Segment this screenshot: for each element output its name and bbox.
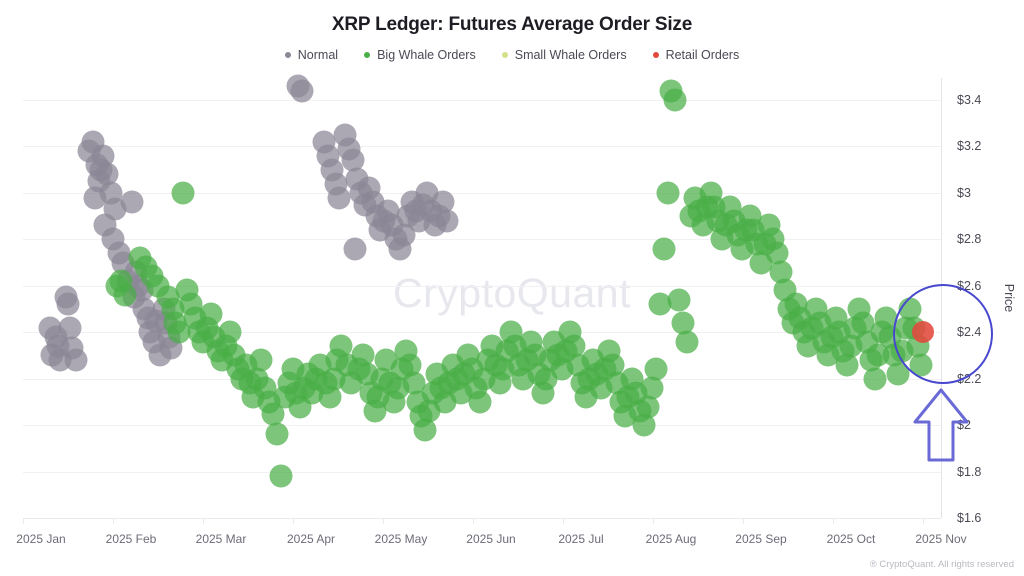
grid-line [23, 425, 941, 426]
data-point[interactable] [656, 181, 679, 204]
plot-area [23, 78, 941, 518]
data-point[interactable] [90, 158, 113, 181]
legend-marker-icon [364, 52, 370, 58]
data-point[interactable] [664, 89, 687, 112]
legend-item-big-whale-orders[interactable]: Big Whale Orders [364, 48, 476, 62]
data-point[interactable] [56, 293, 79, 316]
x-axis-tick-mark [923, 518, 924, 524]
data-point[interactable] [113, 284, 136, 307]
x-axis-tick-mark [833, 518, 834, 524]
y-axis-tick-label: $1.8 [957, 465, 981, 479]
copyright-notice: ® CryptoQuant. All rights reserved [870, 559, 1014, 570]
data-point[interactable] [64, 349, 87, 372]
data-point[interactable] [121, 191, 144, 214]
legend-marker-icon [285, 52, 291, 58]
legend-item-label: Normal [298, 48, 338, 62]
grid-line [23, 146, 941, 147]
x-axis-tick-mark [203, 518, 204, 524]
x-axis-tick-label: 2025 Jan [16, 532, 65, 546]
grid-line [23, 472, 941, 473]
chart-legend: NormalBig Whale OrdersSmall Whale Orders… [0, 48, 1024, 62]
grid-line [23, 100, 941, 101]
x-axis-tick-label: 2025 Aug [646, 532, 697, 546]
x-axis-tick-label: 2025 Mar [196, 532, 247, 546]
data-point[interactable] [652, 237, 675, 260]
x-axis-tick-label: 2025 Jul [558, 532, 603, 546]
x-axis-tick-label: 2025 Nov [915, 532, 966, 546]
y-axis-tick-label: $1.6 [957, 511, 981, 525]
grid-line [23, 239, 941, 240]
x-axis-tick-label: 2025 Oct [827, 532, 876, 546]
data-point[interactable] [328, 186, 351, 209]
x-axis-tick-label: 2025 Jun [466, 532, 515, 546]
data-point[interactable] [199, 302, 222, 325]
x-axis-tick-mark [563, 518, 564, 524]
legend-item-label: Retail Orders [666, 48, 740, 62]
data-point[interactable] [863, 367, 886, 390]
data-point[interactable] [469, 390, 492, 413]
y-axis-tick-label: $3 [957, 186, 971, 200]
x-axis-tick-mark [23, 518, 24, 524]
data-point[interactable] [344, 237, 367, 260]
chart-container: XRP Ledger: Futures Average Order Size N… [0, 0, 1024, 576]
legend-item-label: Small Whale Orders [515, 48, 627, 62]
y-axis-title: Price [1002, 284, 1016, 312]
x-axis-tick-mark [653, 518, 654, 524]
x-axis-tick-mark [743, 518, 744, 524]
data-point[interactable] [668, 288, 691, 311]
chart-title: XRP Ledger: Futures Average Order Size [0, 14, 1024, 36]
y-axis-tick-label: $3.2 [957, 139, 981, 153]
legend-item-retail-orders[interactable]: Retail Orders [653, 48, 740, 62]
x-axis-tick-mark [473, 518, 474, 524]
x-axis-tick-mark [293, 518, 294, 524]
upward-arrow-annotation [911, 386, 971, 466]
x-axis-tick-label: 2025 Feb [106, 532, 157, 546]
data-point[interactable] [219, 321, 242, 344]
data-point[interactable] [269, 465, 292, 488]
x-axis-line [23, 518, 941, 519]
y-axis-tick-label: $3.4 [957, 93, 981, 107]
x-axis-tick-label: 2025 Sep [735, 532, 786, 546]
data-point[interactable] [58, 316, 81, 339]
data-point[interactable] [676, 330, 699, 353]
data-point[interactable] [435, 209, 458, 232]
data-point[interactable] [291, 79, 314, 102]
legend-item-normal[interactable]: Normal [285, 48, 338, 62]
data-point[interactable] [84, 186, 107, 209]
x-axis-tick-mark [113, 518, 114, 524]
x-axis-tick-label: 2025 May [375, 532, 428, 546]
highlight-circle-annotation [893, 284, 993, 384]
legend-item-label: Big Whale Orders [377, 48, 476, 62]
x-axis-tick-mark [383, 518, 384, 524]
data-point[interactable] [250, 349, 273, 372]
legend-marker-icon [653, 52, 659, 58]
y-axis-tick-label: $2.8 [957, 232, 981, 246]
data-point[interactable] [644, 358, 667, 381]
grid-line [23, 193, 941, 194]
legend-marker-icon [502, 52, 508, 58]
data-point[interactable] [172, 181, 195, 204]
x-axis-tick-label: 2025 Apr [287, 532, 335, 546]
legend-item-small-whale-orders[interactable]: Small Whale Orders [502, 48, 627, 62]
data-point[interactable] [265, 423, 288, 446]
